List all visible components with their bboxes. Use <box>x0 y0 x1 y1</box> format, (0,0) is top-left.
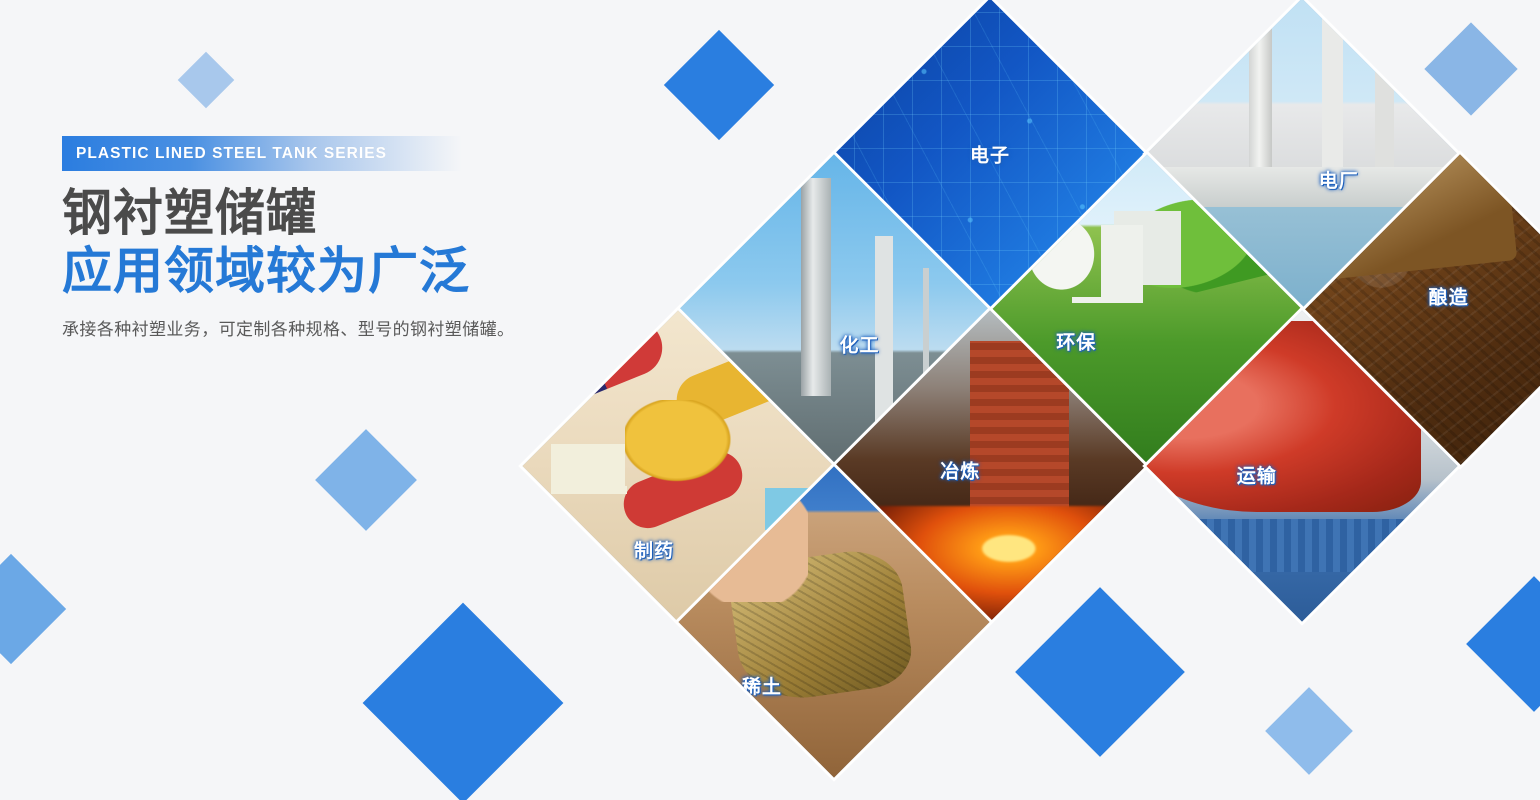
eyebrow-ribbon: PLASTIC LINED STEEL TANK SERIES <box>62 136 462 171</box>
page-title-line1: 钢衬塑储罐 <box>62 185 622 241</box>
promo-banner: 电子电厂化工环保酿造制药冶炼运输稀土 PLASTIC LINED STEEL T… <box>0 0 1540 800</box>
page-title-line2: 应用领域较为广泛 <box>62 243 622 299</box>
page-subtitle: 承接各种衬塑业务，可定制各种规格、型号的钢衬塑储罐。 <box>62 315 622 340</box>
industry-diamond-mosaic: 电子电厂化工环保酿造制药冶炼运输稀土 <box>0 0 1540 800</box>
eyebrow-text: PLASTIC LINED STEEL TANK SERIES <box>62 145 387 163</box>
headline-block: PLASTIC LINED STEEL TANK SERIES 钢衬塑储罐 应用… <box>62 136 622 340</box>
